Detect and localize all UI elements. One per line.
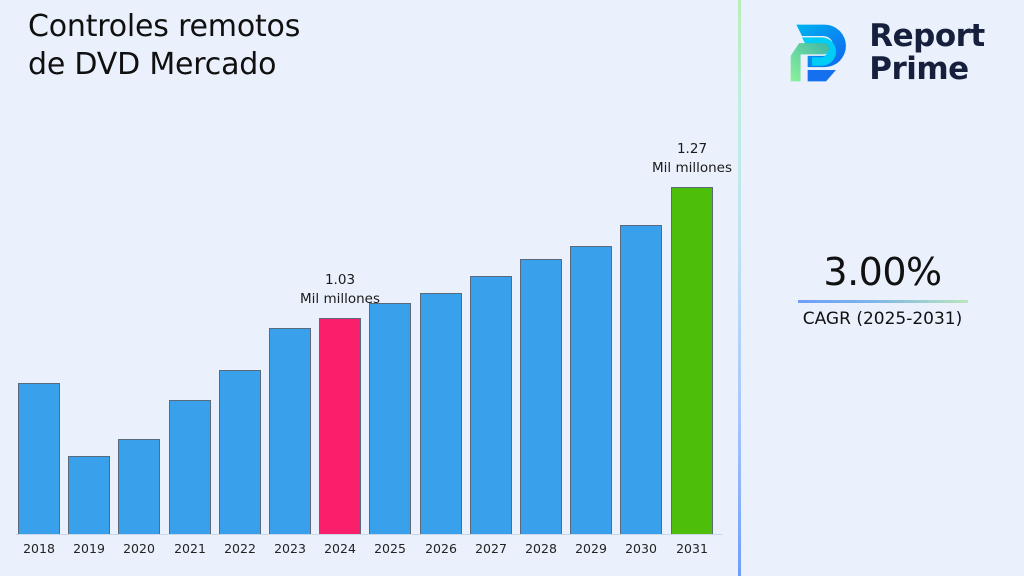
bar-2022 — [219, 370, 261, 534]
brand-panel: Report Prime 3.00% CAGR (2025-2031) — [741, 0, 1024, 576]
cagr-value: 3.00% — [741, 250, 1024, 294]
bar-2020 — [118, 439, 160, 534]
bar-2018 — [18, 383, 60, 534]
chart-panel: Controles remotos de DVD Mercado 2018201… — [0, 0, 738, 576]
cagr-divider-rule — [798, 300, 968, 303]
bar-2027 — [470, 276, 512, 534]
x-axis-tick-2031: 2031 — [662, 541, 722, 556]
cagr-block: 3.00% CAGR (2025-2031) — [741, 250, 1024, 330]
bar-2026 — [420, 293, 462, 534]
bar-chart-plot-area: 20182019202020212022202320241.03 Mil mil… — [0, 0, 738, 576]
bar-2031 — [671, 187, 713, 534]
chart-infographic: Controles remotos de DVD Mercado 2018201… — [0, 0, 1024, 576]
bar-2021 — [169, 400, 211, 534]
bar-2030 — [620, 225, 662, 534]
bar-2028 — [520, 259, 562, 534]
report-prime-logo-icon — [783, 19, 855, 87]
bar-2024 — [319, 318, 361, 534]
x-axis-baseline — [16, 534, 722, 535]
report-prime-logo: Report Prime — [751, 10, 1017, 96]
bar-2023 — [269, 328, 311, 534]
bar-2025 — [369, 303, 411, 534]
bar-2029 — [570, 246, 612, 534]
brand-wordmark: Report Prime — [869, 20, 985, 86]
cagr-caption: CAGR (2025-2031) — [741, 308, 1024, 330]
bar-2019 — [68, 456, 110, 534]
